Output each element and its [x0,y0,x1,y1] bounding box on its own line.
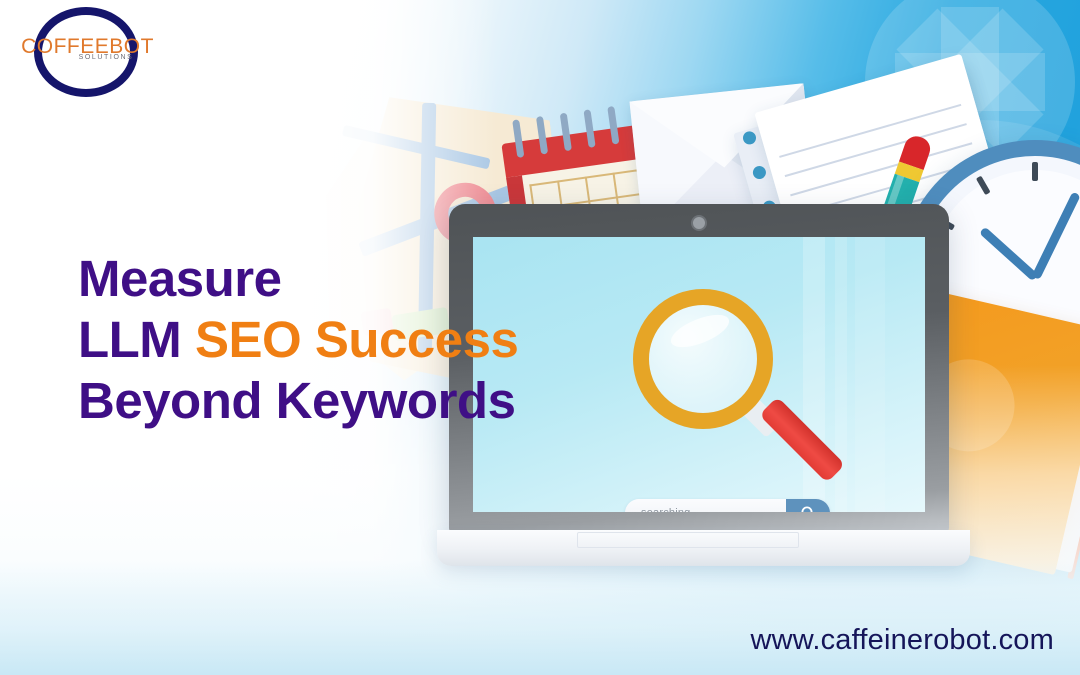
website-url[interactable]: www.caffeinerobot.com [751,624,1054,657]
webcam-icon [691,215,707,231]
headline-line-2-purple: LLM [78,311,195,368]
search-button[interactable] [786,499,830,512]
magnifier-icon [800,505,817,513]
headline-line-2-orange: SEO Success [195,311,518,368]
page-title: Measure LLM SEO Success Beyond Keywords [78,248,598,432]
headline-line-2: LLM SEO Success [78,309,598,370]
trackpad [577,532,799,548]
search-input[interactable]: searching... [625,507,786,512]
bottom-blue-overlay [0,560,1080,675]
brand-logo[interactable]: COFFEEBOT SOLUTIONS [26,4,146,100]
logo-tagline: SOLUTIONS [56,54,156,61]
headline-line-1: Measure [78,248,598,309]
promo-banner: searching... COFFEEBOT SOLUTIONS Measure [0,0,1080,675]
search-bar[interactable]: searching... [625,499,830,512]
headline-line-3: Beyond Keywords [78,370,598,431]
magnifier-icon [633,289,823,479]
